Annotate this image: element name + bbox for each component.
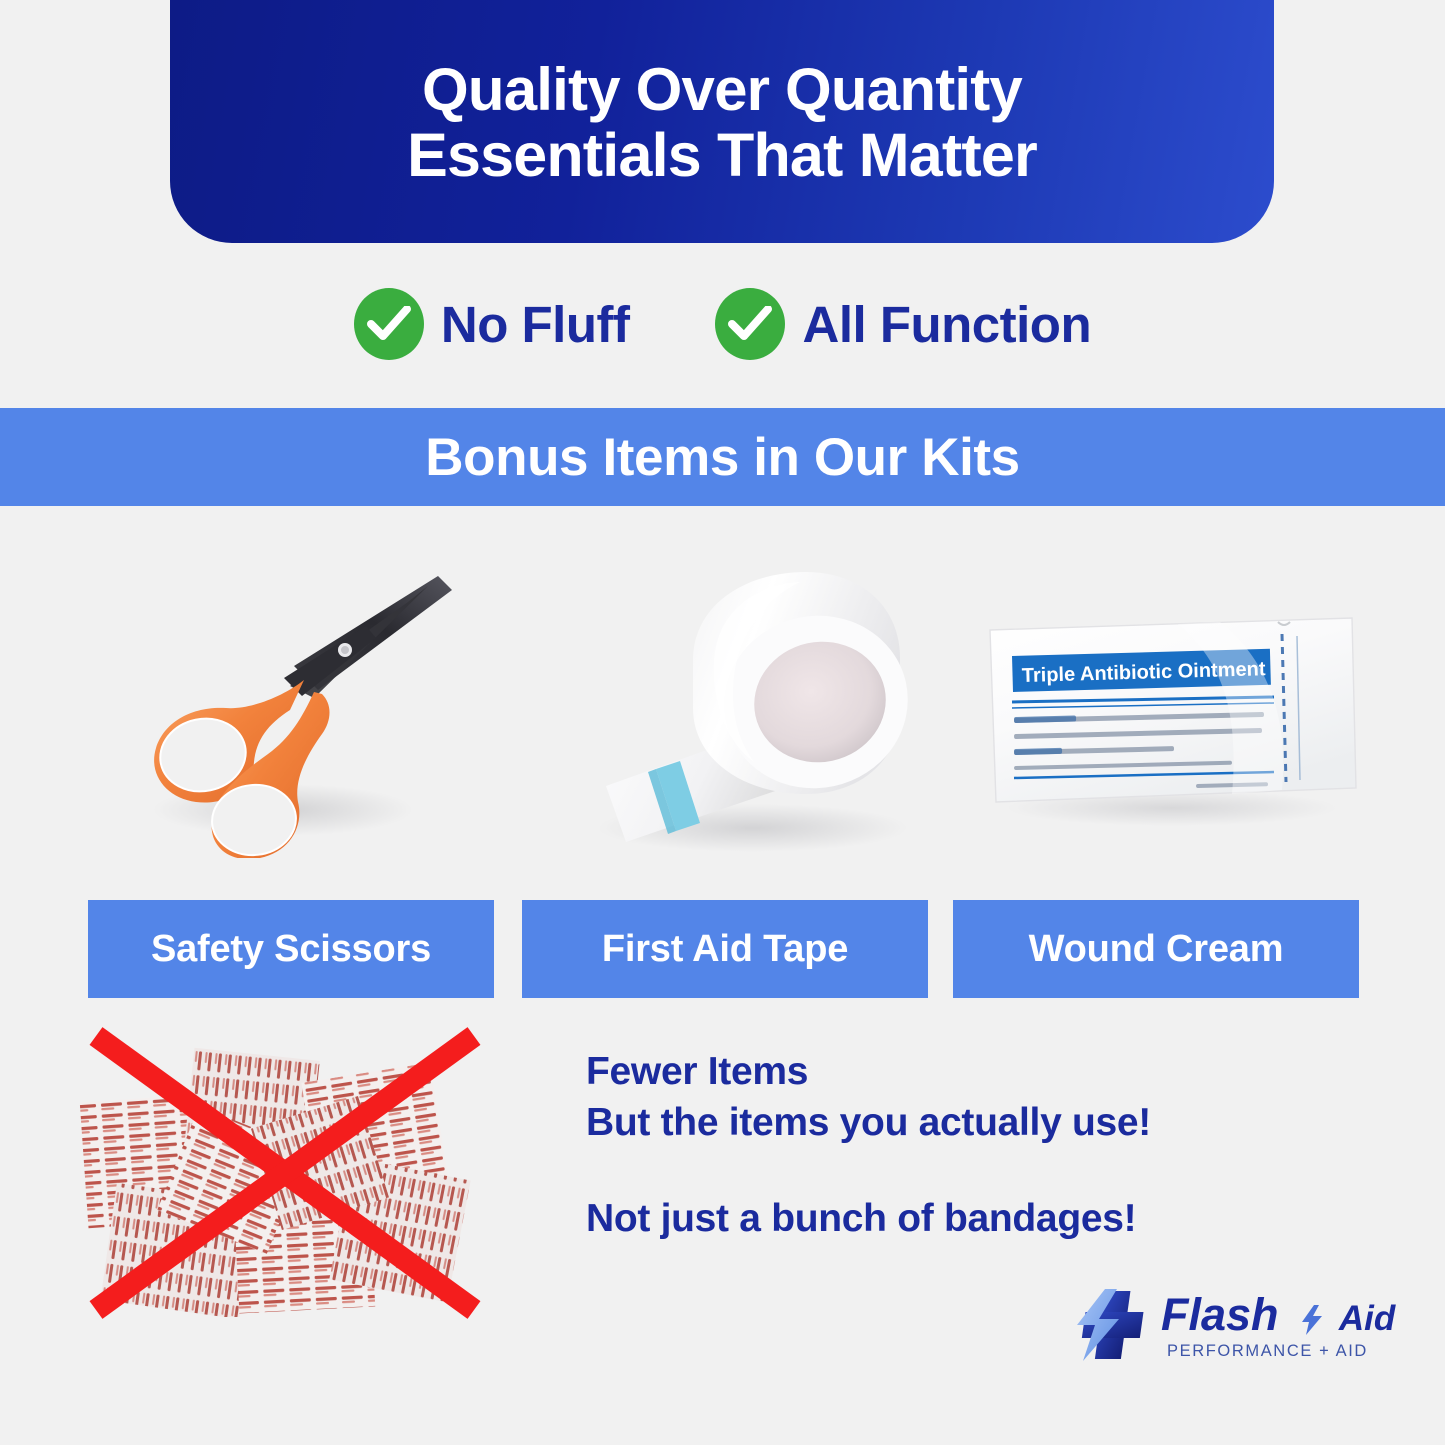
logo-word-flash: Flash xyxy=(1161,1289,1279,1340)
red-x-icon xyxy=(70,1022,500,1322)
copy-spacer xyxy=(586,1149,1286,1193)
logo-separator-bolt-icon xyxy=(1301,1305,1323,1335)
product-label-text: Wound Cream xyxy=(1029,928,1284,971)
infographic-page: Quality Over Quantity Essentials That Ma… xyxy=(0,0,1445,1445)
copy-line-not-bandages: Not just a bunch of bandages! xyxy=(586,1193,1286,1244)
benefit-label-no-fluff: No Fluff xyxy=(441,295,630,354)
check-circle-icon xyxy=(715,288,785,360)
product-label-row: Safety Scissors First Aid Tape Wound Cre… xyxy=(0,900,1445,1000)
header-title-line-1: Quality Over Quantity xyxy=(422,58,1022,123)
first-aid-tape-roll-photo xyxy=(548,550,948,860)
product-label-box-scissors: Safety Scissors xyxy=(88,900,494,998)
benefit-item-no-fluff: No Fluff xyxy=(354,288,630,360)
crossed-out-bandages-block xyxy=(78,1032,490,1317)
benefits-row: No Fluff All Function xyxy=(0,283,1445,365)
benefit-label-all-function: All Function xyxy=(802,295,1091,354)
benefit-item-all-function: All Function xyxy=(715,288,1091,360)
logo-wordmark: Flash+Aid xyxy=(1161,1289,1395,1341)
product-label-box-cream: Wound Cream xyxy=(953,900,1359,998)
header-banner: Quality Over Quantity Essentials That Ma… xyxy=(170,0,1274,243)
product-label-text: First Aid Tape xyxy=(602,928,848,971)
copy-line-items-you-use: But the items you actually use! xyxy=(586,1097,1286,1148)
copy-line-fewer-items: Fewer Items xyxy=(586,1046,1286,1097)
flash-aid-cross-bolt-logo xyxy=(1075,1287,1157,1363)
logo-word-aid: Aid xyxy=(1339,1299,1395,1338)
flash-aid-logo: Flash+Aid PERFORMANCE + AID xyxy=(1075,1283,1365,1383)
product-image-row: Triple Antibiotic Ointment xyxy=(0,540,1445,880)
bonus-items-band: Bonus Items in Our Kits xyxy=(0,408,1445,506)
bottom-copy-block: Fewer Items But the items you actually u… xyxy=(586,1046,1286,1244)
check-circle-icon xyxy=(354,288,424,360)
product-label-text: Safety Scissors xyxy=(151,928,431,971)
product-label-box-tape: First Aid Tape xyxy=(522,900,928,998)
logo-tagline: PERFORMANCE + AID xyxy=(1167,1342,1368,1361)
header-title-line-2: Essentials That Matter xyxy=(407,123,1037,189)
bonus-items-title: Bonus Items in Our Kits xyxy=(425,427,1019,488)
safety-scissors-photo xyxy=(108,558,508,858)
antibiotic-ointment-packet-photo: Triple Antibiotic Ointment xyxy=(982,612,1360,827)
